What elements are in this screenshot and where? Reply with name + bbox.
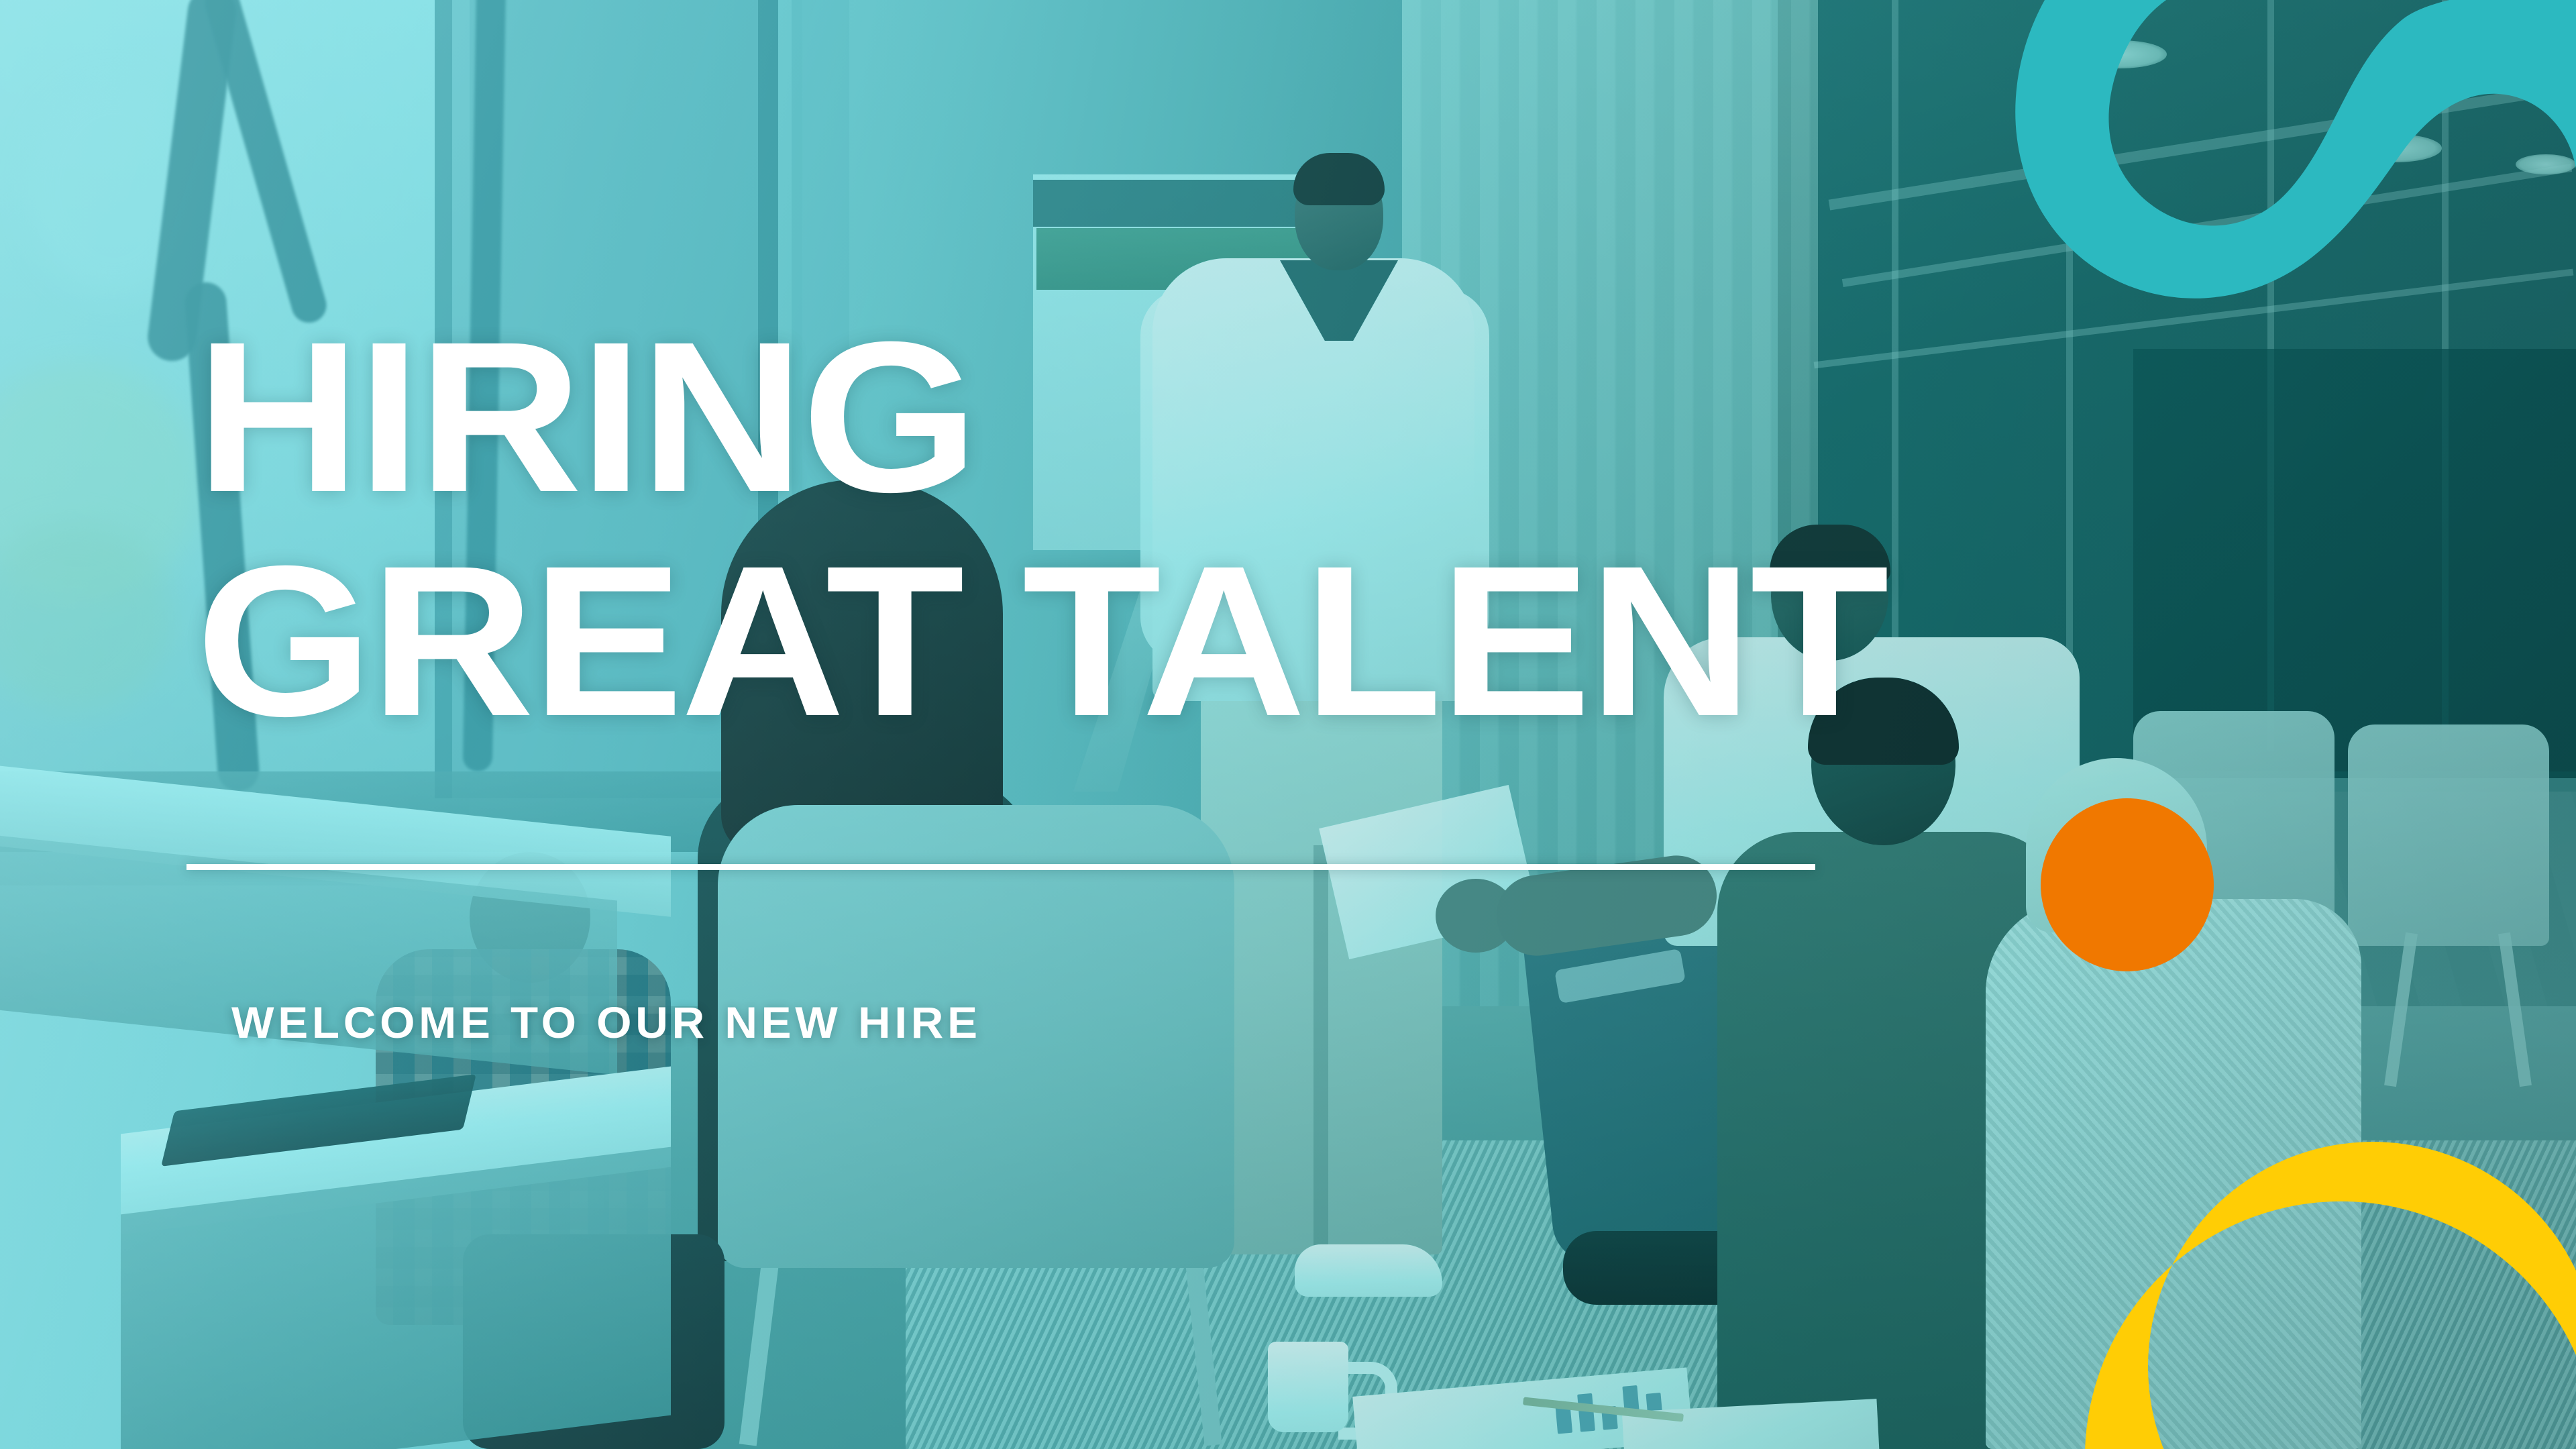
- banner-text-block: HIRING GREAT TALENT WELCOME TO OUR NEW H…: [0, 0, 2576, 1449]
- white-divider-rule: [186, 864, 1815, 870]
- headline-line-1: HIRING: [196, 314, 976, 520]
- hiring-banner: HIRING GREAT TALENT WELCOME TO OUR NEW H…: [0, 0, 2576, 1449]
- headline-line-2: GREAT TALENT: [196, 538, 1886, 744]
- banner-subtitle: WELCOME TO OUR NEW HIRE: [231, 997, 981, 1048]
